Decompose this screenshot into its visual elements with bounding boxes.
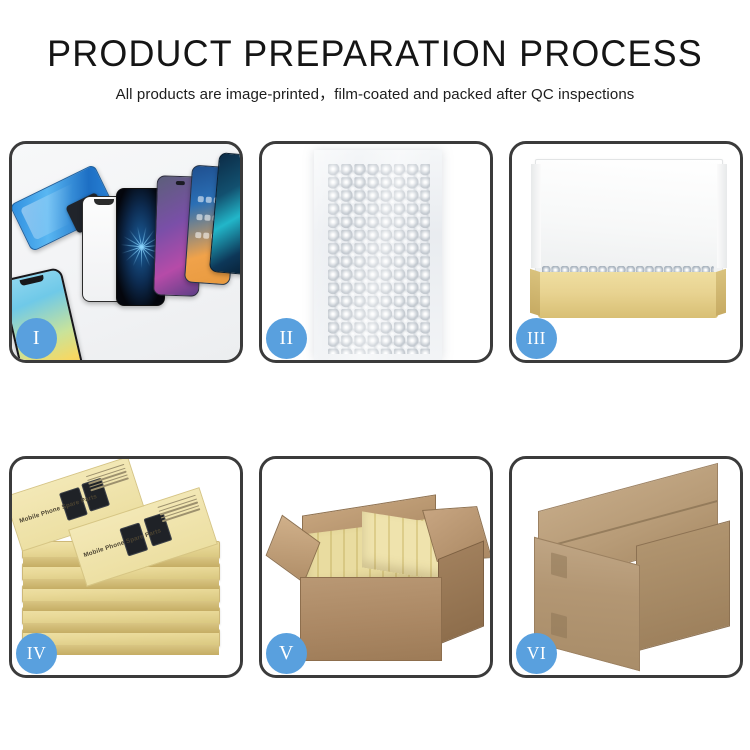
inner-box-open-lid — [535, 159, 723, 281]
process-step-panel-2: II — [259, 141, 493, 363]
process-step-grid: I II III — [9, 141, 741, 678]
carton-label-patch-bottom — [551, 612, 567, 638]
process-step-panel-1: I — [9, 141, 243, 363]
lid-spec-lines-front — [157, 495, 201, 524]
step-badge-5: V — [266, 633, 307, 674]
step-badge-2: II — [266, 318, 307, 359]
page-title: PRODUCT PREPARATION PROCESS — [11, 0, 739, 76]
bubble-wrap-sheet — [314, 150, 442, 360]
bubble-pattern — [328, 164, 430, 354]
inner-box-kraft-base — [538, 272, 718, 318]
step-badge-1: I — [16, 318, 57, 359]
process-step-panel-5: V — [259, 456, 493, 678]
step-badge-3: III — [516, 318, 557, 359]
step-badge-6: VI — [516, 633, 557, 674]
process-step-panel-4: Mobile Phone Spare Parts Mobile Phone Sp… — [9, 456, 243, 678]
step-badge-4: IV — [16, 633, 57, 674]
product-preparation-page: PRODUCT PREPARATION PROCESS All products… — [0, 0, 750, 750]
page-subtitle: All products are image-printed，film-coat… — [4, 76, 747, 105]
carton-label-patch-top — [551, 552, 567, 578]
process-step-panel-6: VI — [509, 456, 743, 678]
process-step-panel-3: III — [509, 141, 743, 363]
carton-front-face — [300, 577, 442, 661]
page-header: PRODUCT PREPARATION PROCESS All products… — [0, 0, 750, 105]
carton-right-face — [438, 540, 484, 645]
lid-spec-lines-back — [86, 464, 130, 493]
